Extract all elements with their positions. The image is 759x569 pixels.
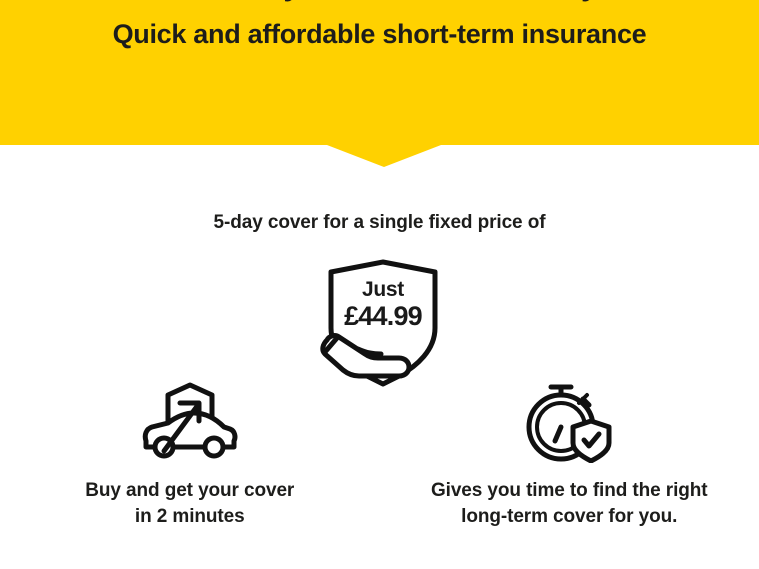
feature-caption: Gives you time to find the right long-te… bbox=[431, 478, 708, 530]
promo-banner: Get 5-day car insurance today Quick and … bbox=[0, 0, 759, 145]
shield-in-hand-icon bbox=[313, 254, 453, 394]
banner-headline-text: Get 5-day car insurance today bbox=[0, 0, 759, 4]
banner-notch-icon bbox=[327, 145, 441, 167]
feature-caption: Buy and get your cover in 2 minutes bbox=[85, 478, 294, 530]
banner-headline-clipped: Get 5-day car insurance today bbox=[0, 0, 759, 4]
car-with-shield-arrow-icon bbox=[140, 378, 240, 464]
feature-item-time-to-choose: Gives you time to find the right long-te… bbox=[380, 378, 759, 538]
feature-item-buy-speed: Buy and get your cover in 2 minutes bbox=[0, 378, 380, 538]
stopwatch-with-shield-check-icon bbox=[521, 378, 617, 464]
banner-subtitle: Quick and affordable short-term insuranc… bbox=[0, 17, 759, 51]
feature-list: Buy and get your cover in 2 minutes Giv bbox=[0, 378, 759, 538]
price-lead-line: 5-day cover for a single fixed price of bbox=[0, 210, 759, 236]
